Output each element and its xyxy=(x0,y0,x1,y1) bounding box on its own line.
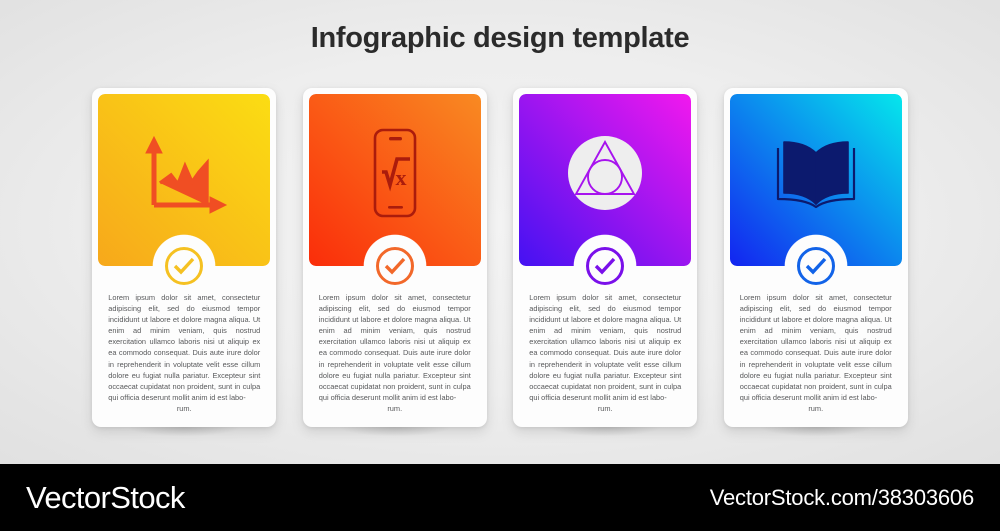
card-2-check-badge[interactable] xyxy=(371,242,419,290)
info-card-2[interactable]: x Lorem ipsum dolor sit amet, consectetu… xyxy=(303,88,487,427)
cards-row: Lorem ipsum dolor sit amet, consectetur … xyxy=(0,88,1000,427)
info-card-4[interactable]: Lorem ipsum dolor sit amet, consectetur … xyxy=(724,88,908,427)
card-4-tile-wrap xyxy=(730,94,902,266)
footer-bar: VectorStock VectorStock.com/38303606 xyxy=(0,464,1000,531)
card-3-body-text: Lorem ipsum dolor sit amet, consectetur … xyxy=(529,293,681,402)
card-1-tile-wrap xyxy=(98,94,270,266)
card-3-body-last-line: rum. xyxy=(529,403,681,414)
card-2-body-last-line: rum. xyxy=(319,403,471,414)
card-2-tile-wrap: x xyxy=(309,94,481,266)
info-card-3[interactable]: Lorem ipsum dolor sit amet, consectetur … xyxy=(513,88,697,427)
card-4-description: Lorem ipsum dolor sit amet, consectetur … xyxy=(730,266,902,427)
card-1-check-badge[interactable] xyxy=(160,242,208,290)
card-2-body-text: Lorem ipsum dolor sit amet, consectetur … xyxy=(319,293,471,402)
page-title: Infographic design template xyxy=(0,22,1000,55)
vectorstock-logo: VectorStock xyxy=(26,480,185,516)
card-4-check-badge[interactable] xyxy=(792,242,840,290)
check-icon xyxy=(165,247,203,285)
card-4-color-tile xyxy=(730,94,902,266)
card-1-body-last-line: rum. xyxy=(108,403,260,414)
card-4-body-last-line: rum. xyxy=(740,403,892,414)
card-1-body-text: Lorem ipsum dolor sit amet, consectetur … xyxy=(108,293,260,402)
card-1-description: Lorem ipsum dolor sit amet, consectetur … xyxy=(98,266,270,427)
card-2-description: Lorem ipsum dolor sit amet, consectetur … xyxy=(309,266,481,427)
card-3-description: Lorem ipsum dolor sit amet, consectetur … xyxy=(519,266,691,427)
card-2-color-tile xyxy=(309,94,481,266)
card-1-shadow xyxy=(106,427,262,440)
card-3-tile-wrap xyxy=(519,94,691,266)
check-icon xyxy=(797,247,835,285)
card-3-color-tile xyxy=(519,94,691,266)
check-icon xyxy=(376,247,414,285)
infographic-canvas: Infographic design template xyxy=(0,0,1000,531)
card-2-shadow xyxy=(317,427,473,440)
card-4-shadow xyxy=(738,427,894,440)
info-card-1[interactable]: Lorem ipsum dolor sit amet, consectetur … xyxy=(92,88,276,427)
card-1-color-tile xyxy=(98,94,270,266)
check-icon xyxy=(586,247,624,285)
card-4-body-text: Lorem ipsum dolor sit amet, consectetur … xyxy=(740,293,892,402)
card-3-shadow xyxy=(527,427,683,440)
card-3-check-badge[interactable] xyxy=(581,242,629,290)
footer-url: VectorStock.com/38303606 xyxy=(710,485,974,511)
